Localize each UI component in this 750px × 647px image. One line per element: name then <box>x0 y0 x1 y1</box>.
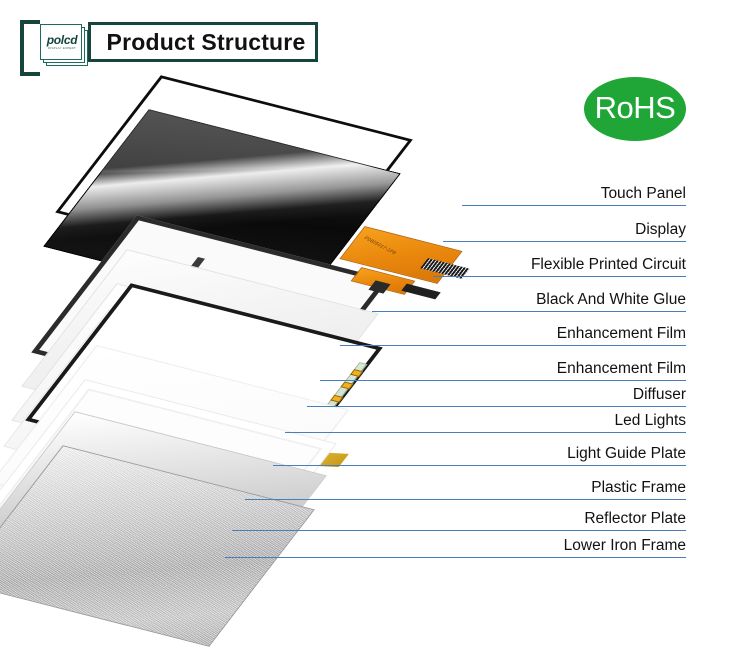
layer-leader-line <box>443 241 686 242</box>
layer-label: Display <box>635 221 686 238</box>
layer-label: Enhancement Film <box>557 325 686 342</box>
layer-leader-line <box>245 499 686 500</box>
fpc-marking-text: P0805017-1P8 <box>362 236 397 256</box>
layer-label: Touch Panel <box>601 185 686 202</box>
layer-leader-line <box>462 205 686 206</box>
layer-label: Enhancement Film <box>557 360 686 377</box>
layer-leader-line <box>273 465 686 466</box>
layer-label: Flexible Printed Circuit <box>531 256 686 273</box>
layer-label: Black And White Glue <box>536 291 686 308</box>
product-structure-diagram: polcd DISPLAY EXPERT Product Structure R… <box>0 0 750 621</box>
layer-leader-line <box>285 432 686 433</box>
rohs-badge: RoHS <box>584 77 686 141</box>
layer-leader-line <box>433 276 686 277</box>
rohs-badge-label: RoHS <box>584 77 686 141</box>
layer-leader-line <box>307 406 686 407</box>
layer-label: Light Guide Plate <box>567 445 686 462</box>
layer-leader-line <box>340 345 686 346</box>
layer-label: Reflector Plate <box>584 510 686 527</box>
layer-label: Led Lights <box>614 412 686 429</box>
layer-leader-line <box>225 557 686 558</box>
layer-label: Diffuser <box>633 386 686 403</box>
fpc-tail <box>401 284 440 300</box>
layer-label: Lower Iron Frame <box>564 537 686 554</box>
layer-label: Plastic Frame <box>591 479 686 496</box>
layer-leader-line <box>372 311 686 312</box>
layer-leader-line <box>232 530 686 531</box>
layer-leader-line <box>320 380 686 381</box>
